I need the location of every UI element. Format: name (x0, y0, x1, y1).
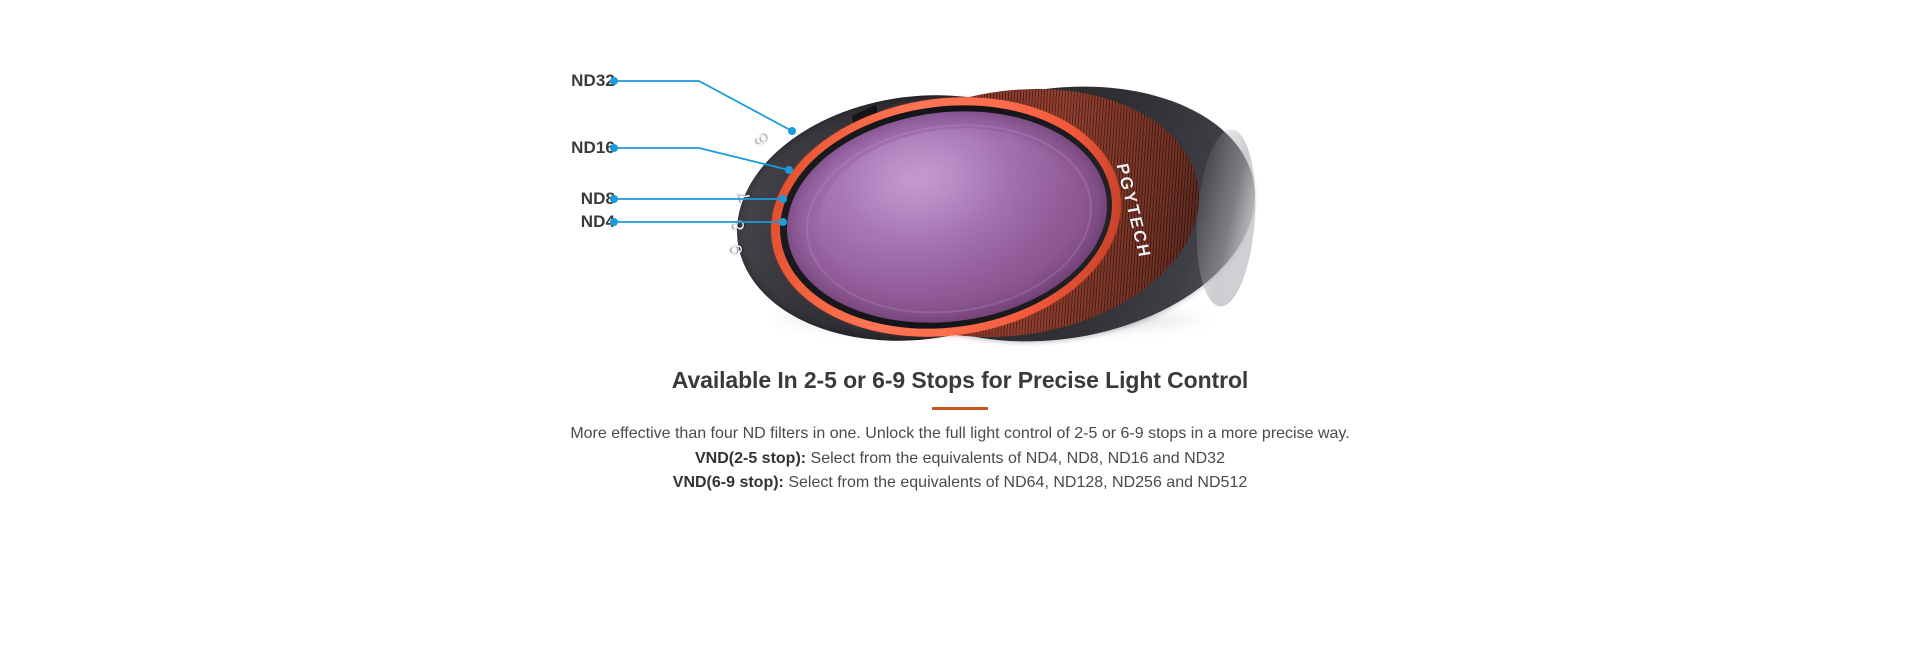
accent-divider (932, 407, 988, 410)
divider-wrapper (0, 406, 1920, 410)
spec-row-6-9-stop: VND(6-9 stop): Select from the equivalen… (0, 471, 1920, 496)
headline: Available In 2-5 or 6-9 Stops for Precis… (0, 366, 1920, 396)
product-hero: ND32 ND16 ND8 ND4 6 7 8 9 PGYTECH (0, 0, 1920, 360)
callout-label-nd4: ND4 (581, 212, 615, 232)
spec-lead-2-5-stop: VND(2-5 stop): (695, 450, 806, 467)
body-paragraph: More effective than four ND filters in o… (0, 422, 1920, 447)
callout-label-nd32: ND32 (571, 71, 615, 91)
callout-label-nd8: ND8 (581, 189, 615, 209)
spec-text-2-5-stop: Select from the equivalents of ND4, ND8,… (806, 450, 1225, 467)
spec-text-6-9-stop: Select from the equivalents of ND64, ND1… (784, 474, 1247, 491)
spec-lead-6-9-stop: VND(6-9 stop): (673, 474, 784, 491)
copy-block: Available In 2-5 or 6-9 Stops for Precis… (0, 366, 1920, 496)
callout-label-nd16: ND16 (571, 138, 615, 158)
page-root: ND32 ND16 ND8 ND4 6 7 8 9 PGYTECH (0, 0, 1920, 669)
dial-numeral-6: 6 (751, 130, 772, 149)
product-image: 6 7 8 9 PGYTECH (735, 86, 1265, 344)
spec-row-2-5-stop: VND(2-5 stop): Select from the equivalen… (0, 447, 1920, 472)
